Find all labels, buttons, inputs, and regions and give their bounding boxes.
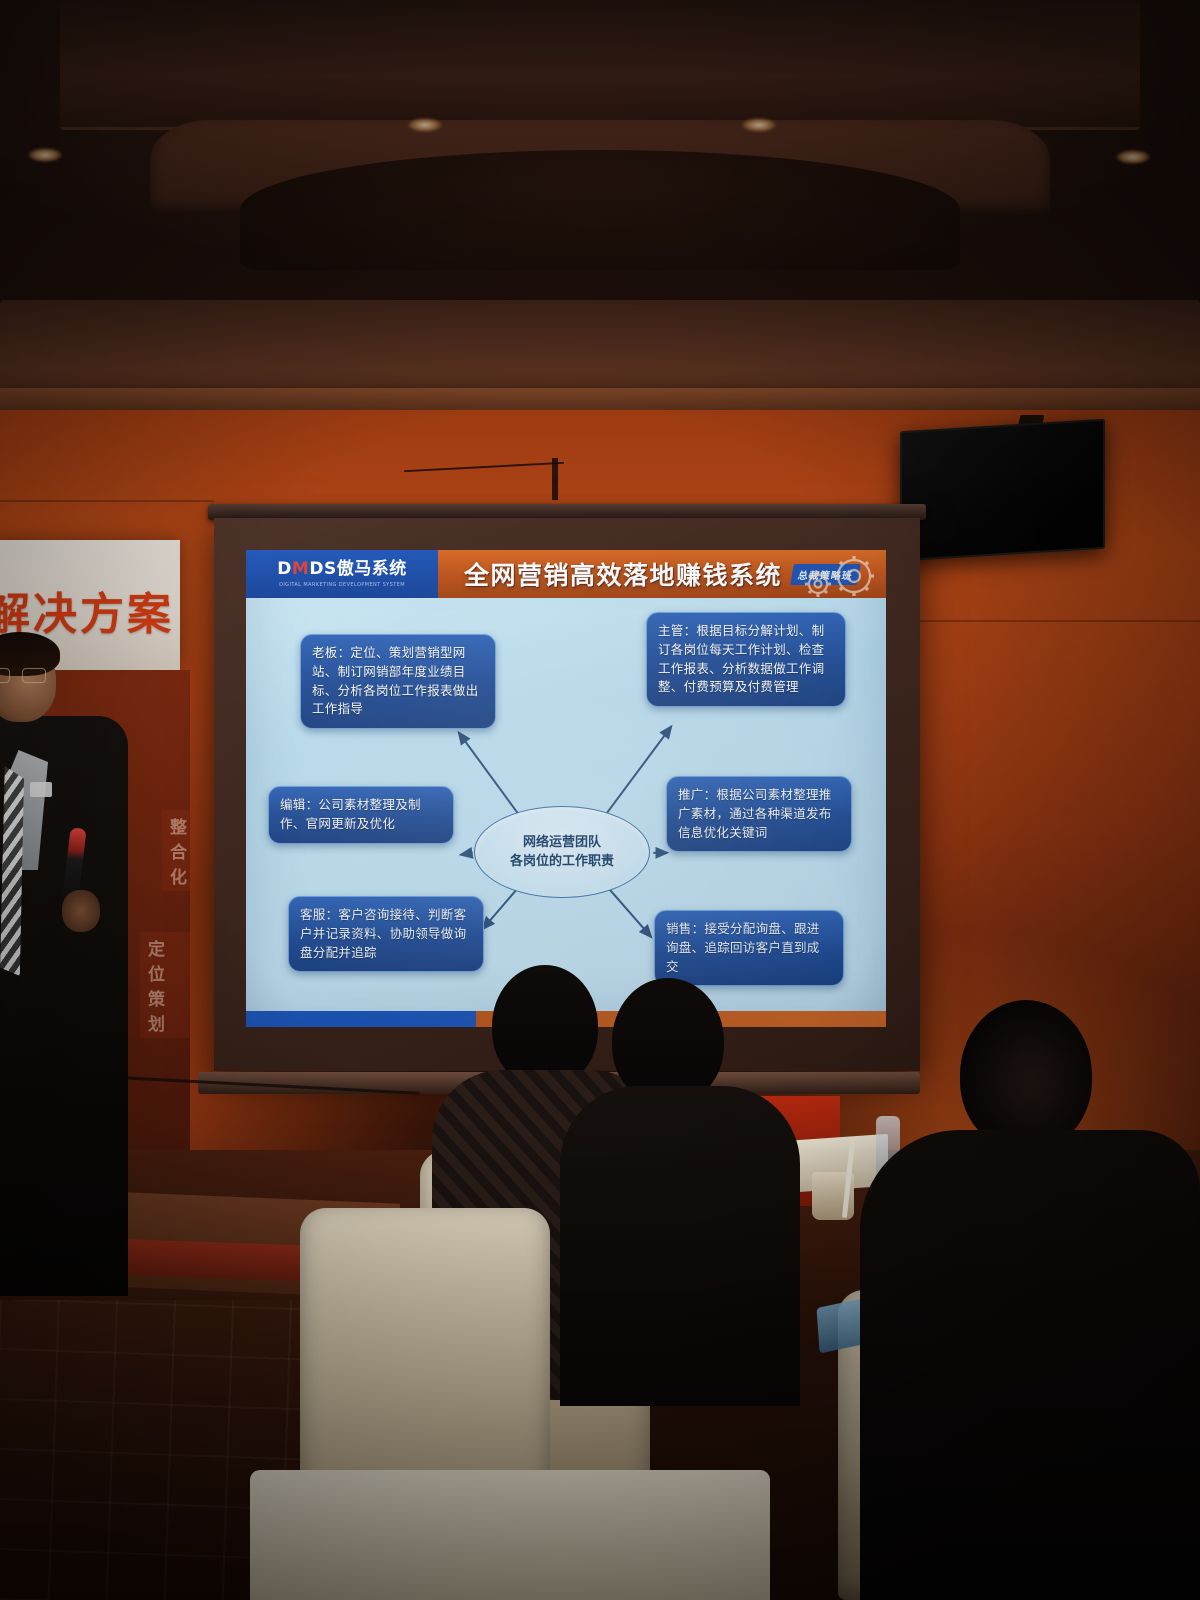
photo-scene: 解决方案 整合化 定位策划 DMDS傲马系统 DIGITAL MARKETING… — [0, 0, 1200, 1600]
audience-body — [860, 1130, 1200, 1600]
downlight-icon — [28, 148, 62, 162]
downlight-icon — [1116, 150, 1150, 164]
slide-title-bar: 全网营销高效落地赚钱系统 总裁策略班 — [438, 550, 886, 598]
wall-banner-chip: 整合化 — [162, 810, 197, 891]
ceiling-panel-inner — [240, 150, 960, 270]
gears-icon — [794, 554, 880, 600]
logo-prefix: D — [277, 559, 292, 579]
logo-suffix: DS — [309, 559, 336, 579]
logo-cn: 傲马系统 — [337, 559, 407, 579]
downlight-icon — [742, 118, 776, 132]
brand-logo: DMDS傲马系统 DIGITAL MARKETING DEVELOPMENT S… — [246, 550, 438, 598]
node-sales-text: 销售：接受分配询盘、跟进询盘、追踪回访客户直到成交 — [666, 921, 820, 974]
node-boss-text: 老板：定位、策划营销型网站、制订网销部年度业绩目标、分析各岗位工作报表做出工作指… — [312, 645, 478, 716]
node-manager[interactable]: 主管：根据目标分解计划、制订各岗位每天工作计划、检查工作报表、分析数据做工作调整… — [646, 612, 846, 707]
brand-logo-text: DMDS傲马系统 — [277, 561, 406, 578]
slide-canvas: DMDS傲马系统 DIGITAL MARKETING DEVELOPMENT S… — [246, 550, 886, 1027]
presenter-name-badge — [30, 782, 52, 797]
wall-speaker — [900, 419, 1105, 562]
ceiling — [0, 0, 1200, 420]
wall-banner-chip: 定位策划 — [140, 932, 190, 1038]
wall-seam — [0, 500, 214, 502]
node-sales[interactable]: 销售：接受分配询盘、跟进询盘、追踪回访客户直到成交 — [654, 910, 844, 986]
slide-title: 全网营销高效落地赚钱系统 — [464, 556, 782, 592]
node-promotion-text: 推广：根据公司素材整理推广素材，通过各种渠道发布信息优化关键词 — [678, 787, 832, 840]
node-customer-service[interactable]: 客服：客户咨询接待、判断客户并记录资料、协助领导做询盘分配并追踪 — [288, 896, 484, 972]
glasses-icon — [0, 668, 10, 683]
node-customer-service-text: 客服：客户咨询接待、判断客户并记录资料、协助领导做询盘分配并追踪 — [300, 907, 466, 960]
glasses-icon — [22, 668, 46, 683]
node-promotion[interactable]: 推广：根据公司素材整理推广素材，通过各种渠道发布信息优化关键词 — [666, 776, 852, 852]
slide-footer-blue — [246, 1011, 476, 1027]
audience-head — [492, 965, 598, 1087]
org-responsibility-diagram: 老板：定位、策划营销型网站、制订网销部年度业绩目标、分析各岗位工作报表做出工作指… — [246, 598, 886, 1011]
node-editor[interactable]: 编辑：公司素材整理及制作、官网更新及优化 — [268, 786, 454, 844]
slide-header: DMDS傲马系统 DIGITAL MARKETING DEVELOPMENT S… — [246, 550, 886, 598]
diagram-center-node: 网络运营团队 各岗位的工作职责 — [474, 806, 650, 898]
wall-seam — [920, 620, 1200, 622]
downlight-icon — [408, 118, 442, 132]
presenter — [0, 640, 138, 1300]
center-node-line1: 网络运营团队 — [523, 833, 601, 853]
node-manager-text: 主管：根据目标分解计划、制订各岗位每天工作计划、检查工作报表、分析数据做工作调整… — [658, 623, 824, 694]
audience-body — [560, 1086, 800, 1406]
center-node-line2: 各岗位的工作职责 — [510, 852, 614, 872]
node-boss[interactable]: 老板：定位、策划营销型网站、制订网销部年度业绩目标、分析各岗位工作报表做出工作指… — [300, 634, 496, 729]
node-editor-text: 编辑：公司素材整理及制作、官网更新及优化 — [280, 797, 421, 831]
audience-head — [960, 1000, 1092, 1150]
ceiling-panel-outer — [60, 0, 1140, 130]
presenter-hand — [62, 890, 100, 932]
table-cloth — [250, 1470, 770, 1600]
brand-logo-subtitle: DIGITAL MARKETING DEVELOPMENT SYSTEM — [279, 582, 405, 588]
hanging-cable-hook — [552, 458, 558, 500]
logo-accent: M — [292, 559, 309, 579]
